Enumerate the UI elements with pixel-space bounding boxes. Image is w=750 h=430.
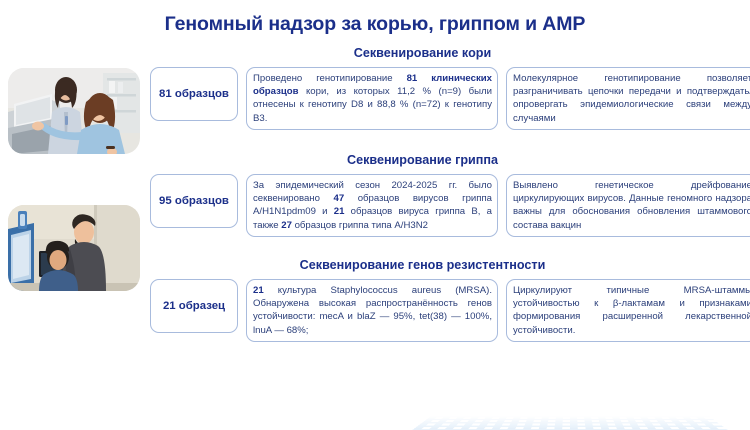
- count-card-resistance: 21 образец: [150, 279, 238, 333]
- section-header-measles: Секвенирование кори: [150, 45, 750, 62]
- section-header-resistance: Секвенирование генов резистентности: [150, 257, 750, 274]
- section-measles: Секвенирование кори 81 образцов Проведен…: [150, 45, 750, 130]
- section-resistance: Секвенирование генов резистентности 21 о…: [150, 257, 750, 342]
- section-influenza: Секвенирование гриппа 95 образцов За эпи…: [150, 152, 750, 237]
- count-card-influenza: 95 образцов: [150, 174, 238, 228]
- photo-lab-technicians: [8, 68, 140, 154]
- detail-card-measles: Проведено генотипирование 81 клинических…: [246, 67, 498, 130]
- detail-card-influenza: За эпидемический сезон 2024-2025 гг. был…: [246, 174, 498, 237]
- photo-lab-technicians-image: [8, 68, 140, 154]
- section-row-influenza: 95 образцов За эпидемический сезон 2024-…: [150, 174, 750, 237]
- insight-card-measles: Молекулярное генотипирование позволяет р…: [506, 67, 750, 130]
- section-row-resistance: 21 образец 21 культура Staphylococcus au…: [150, 279, 750, 342]
- section-header-influenza: Секвенирование гриппа: [150, 152, 750, 169]
- photo-lab-computer-image: [8, 205, 140, 291]
- insight-card-resistance: Циркулируют типичные MRSA-штаммы устойчи…: [506, 279, 750, 342]
- count-card-measles: 81 образцов: [150, 67, 238, 121]
- page-title: Геномный надзор за корью, гриппом и АМР: [0, 13, 750, 36]
- section-row-measles: 81 образцов Проведено генотипирование 81…: [150, 67, 750, 130]
- detail-card-resistance: 21 культура Staphylococcus aureus (MRSA)…: [246, 279, 498, 342]
- photo-lab-computer: [8, 205, 140, 291]
- insight-card-influenza: Выявлено генетическое дрейфование циркул…: [506, 174, 750, 237]
- decorative-dash-grid-right: [350, 416, 750, 430]
